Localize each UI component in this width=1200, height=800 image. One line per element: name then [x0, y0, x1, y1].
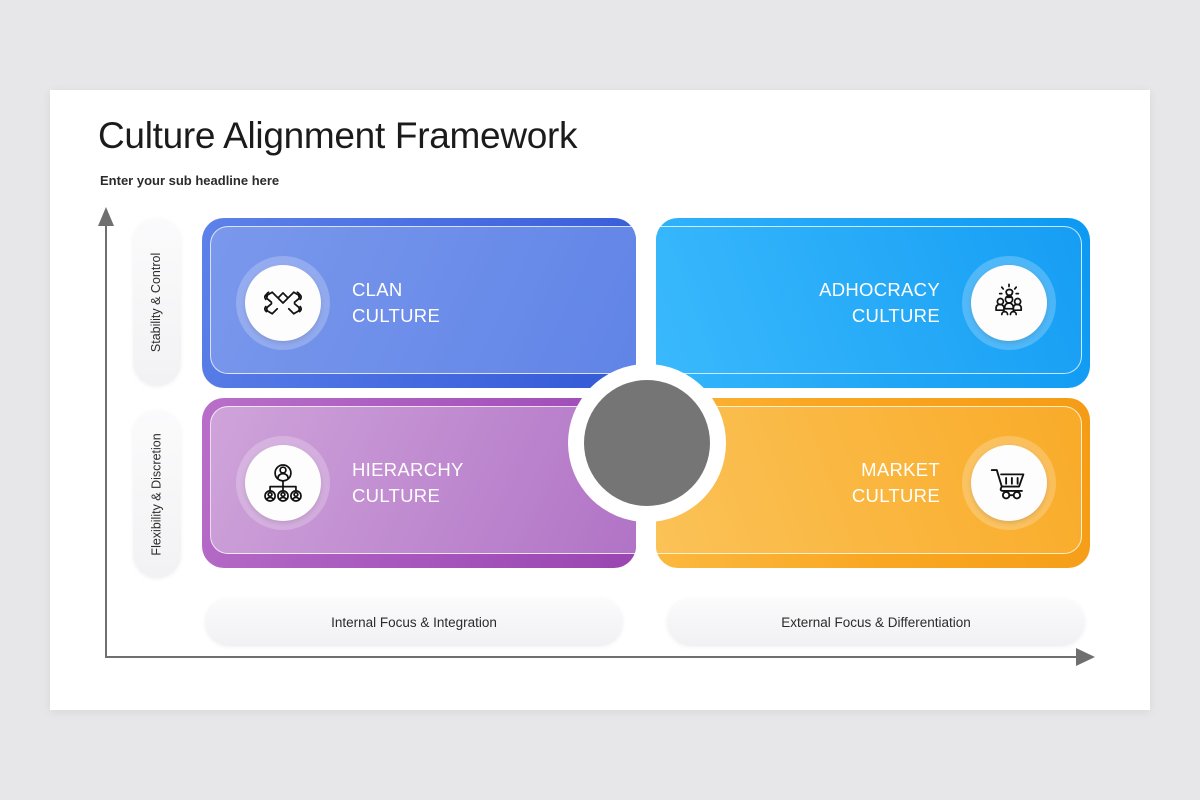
quadrant-label: ADHOCRACY CULTURE	[819, 277, 940, 330]
vertical-axis-line	[105, 220, 107, 658]
quadrant-label: MARKET CULTURE	[852, 457, 940, 510]
quadrant-icon-badge	[236, 436, 330, 530]
innovation-idea-group-icon	[986, 280, 1032, 326]
panel-content: ADHOCRACY CULTURE	[656, 218, 1090, 388]
axis-label-text: Flexibility & Discretion	[149, 433, 166, 555]
center-hub	[568, 364, 726, 522]
axis-label-stability-control: Stability & Control	[133, 218, 181, 386]
quadrant-adhocracy-culture[interactable]: ADHOCRACY CULTURE	[656, 218, 1090, 388]
axis-label-internal-focus: Internal Focus & Integration	[205, 598, 623, 646]
page-title: Culture Alignment Framework	[98, 115, 577, 157]
icon-disc	[245, 265, 321, 341]
axis-label-text: Stability & Control	[149, 252, 166, 351]
horizontal-axis-arrow-icon	[1076, 648, 1095, 666]
quadrant-icon-badge	[962, 256, 1056, 350]
icon-disc	[971, 265, 1047, 341]
axis-label-flexibility-discretion: Flexibility & Discretion	[133, 410, 181, 578]
quadrant-clan-culture[interactable]: CLAN CULTURE	[202, 218, 636, 388]
vertical-axis-arrow-icon	[98, 207, 114, 226]
teamwork-hands-icon	[260, 280, 306, 326]
center-hub-core	[584, 380, 710, 506]
axis-label-external-focus: External Focus & Differentiation	[667, 598, 1085, 646]
icon-disc	[245, 445, 321, 521]
slide-canvas: Culture Alignment Framework Enter your s…	[50, 90, 1150, 710]
horizontal-axis-line	[105, 656, 1080, 658]
quadrant-label: HIERARCHY CULTURE	[352, 457, 464, 510]
panel-content: CLAN CULTURE	[202, 218, 636, 388]
quadrant-icon-badge	[962, 436, 1056, 530]
icon-disc	[971, 445, 1047, 521]
page-subtitle: Enter your sub headline here	[100, 173, 279, 188]
quadrant-icon-badge	[236, 256, 330, 350]
shopping-cart-icon	[986, 460, 1032, 506]
org-chart-icon	[260, 460, 306, 506]
quadrant-label: CLAN CULTURE	[352, 277, 440, 330]
